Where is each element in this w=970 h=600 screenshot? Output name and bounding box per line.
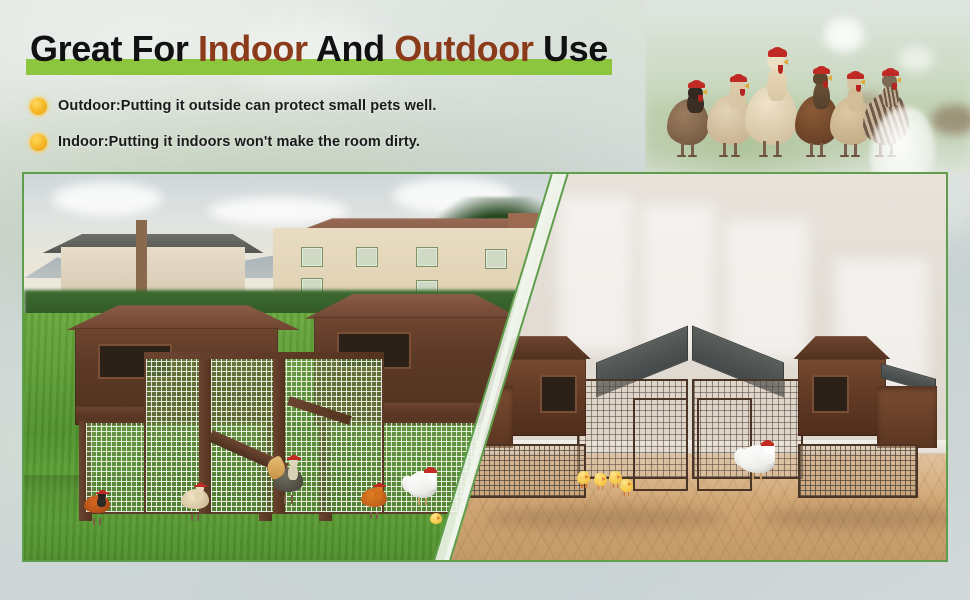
run-top-rail [144, 352, 384, 360]
white-chicken [407, 467, 437, 505]
chicken [361, 483, 387, 519]
coop-door [540, 375, 577, 414]
chicken-comb [376, 483, 383, 487]
chicken-leg [418, 498, 420, 505]
chicken-foot [688, 155, 697, 158]
rooster-leg [291, 495, 294, 504]
chick-leg [613, 484, 615, 488]
chick-beak [585, 475, 589, 479]
chicken-comb [850, 71, 861, 79]
product-photo-panel [22, 172, 948, 562]
chicken-foot [851, 155, 860, 158]
flock-of-chickens-photo [645, 0, 970, 175]
chicken-leg [99, 518, 102, 525]
run-door-frame [633, 398, 688, 491]
chick-leg [581, 484, 583, 488]
headline-highlight-indoor: Indoor [198, 28, 308, 69]
chicken-foot [731, 155, 740, 158]
chicken-comb [733, 74, 744, 82]
chick [620, 479, 633, 496]
chick-leg [598, 486, 600, 490]
white-chicken [739, 440, 775, 480]
chicken [667, 77, 709, 157]
chick-leg [628, 492, 630, 496]
chicken-comb [763, 440, 772, 446]
farmhouse-window [485, 249, 507, 269]
chicken [84, 491, 110, 525]
chicken-comb [197, 483, 204, 487]
farmhouse-window [416, 247, 438, 267]
chicken-foot [806, 155, 815, 158]
chicken-leg [93, 518, 96, 525]
chick-leg [585, 484, 587, 488]
chicken-beak [783, 59, 788, 65]
chicken-wattle [856, 85, 861, 92]
chicken-neck [767, 65, 787, 101]
window-light-patch [725, 220, 808, 359]
coop-run-mesh [467, 444, 587, 498]
page-title: Great For Indoor And Outdoor Use [30, 30, 608, 68]
chicken [181, 483, 209, 521]
chicken-foot [840, 155, 849, 158]
bullet-dot-icon [30, 98, 47, 115]
chicken-leg [197, 514, 200, 521]
feature-bullet-list: Outdoor:Putting it outside can protect s… [30, 92, 437, 164]
chicken [745, 41, 797, 157]
bullet-dot-icon [30, 134, 47, 151]
bullet-text: Indoor:Putting it indoors won't make the… [58, 134, 420, 150]
chicken-leg [370, 512, 373, 519]
window-light-patch [559, 197, 633, 351]
chick-beak [602, 477, 606, 481]
headline-part-2: And [308, 28, 395, 69]
cloud [52, 182, 162, 216]
chicken-comb [691, 80, 702, 88]
headline-part-3: Use [533, 28, 607, 69]
farmhouse-window [301, 247, 323, 267]
rooster-neck [288, 464, 298, 480]
list-item: Outdoor:Putting it outside can protect s… [30, 92, 437, 120]
chicken-foot [759, 155, 768, 158]
rooster-comb [290, 455, 298, 460]
chicken-wattle [778, 65, 783, 74]
coop-door [812, 375, 849, 414]
chicken-foot [677, 155, 686, 158]
rooster [273, 452, 303, 504]
headline-part-1: Great For [30, 28, 198, 69]
chicken-foot [773, 155, 782, 158]
chicken-comb [99, 490, 106, 494]
chicken-foot [817, 155, 826, 158]
coop-run-mesh [798, 444, 918, 498]
chicken-wattle [892, 83, 897, 90]
chicken-leg [191, 514, 194, 521]
chick-leg [617, 484, 619, 488]
chicken-wattle [698, 95, 703, 102]
chicken-comb [816, 66, 827, 74]
chicken-leg [760, 473, 762, 480]
farmhouse-window [356, 247, 378, 267]
rooster-leg [284, 495, 287, 504]
chick [594, 473, 607, 490]
chick-beak [628, 482, 632, 486]
chicken-comb [771, 47, 784, 57]
chicken-comb [426, 467, 435, 473]
background-bird-blur [931, 105, 970, 135]
chick-leg [624, 492, 626, 496]
chicken-foot [719, 155, 728, 158]
chick-leg [602, 486, 604, 490]
chicken-leg [752, 473, 754, 480]
chicken-leg [425, 498, 427, 505]
chicken-leg [376, 512, 379, 519]
background-bird-blur [824, 18, 864, 52]
chicken-wattle [823, 81, 828, 88]
chick-beak [437, 516, 441, 520]
headline-highlight-outdoor: Outdoor [394, 28, 533, 69]
chick [430, 514, 442, 528]
list-item: Indoor:Putting it indoors won't make the… [30, 128, 437, 156]
nesting-box [877, 386, 937, 448]
coop-floor-shadow [485, 506, 725, 529]
bullet-text: Outdoor:Putting it outside can protect s… [58, 98, 437, 114]
chick [577, 471, 590, 488]
chicken-comb [885, 68, 896, 76]
